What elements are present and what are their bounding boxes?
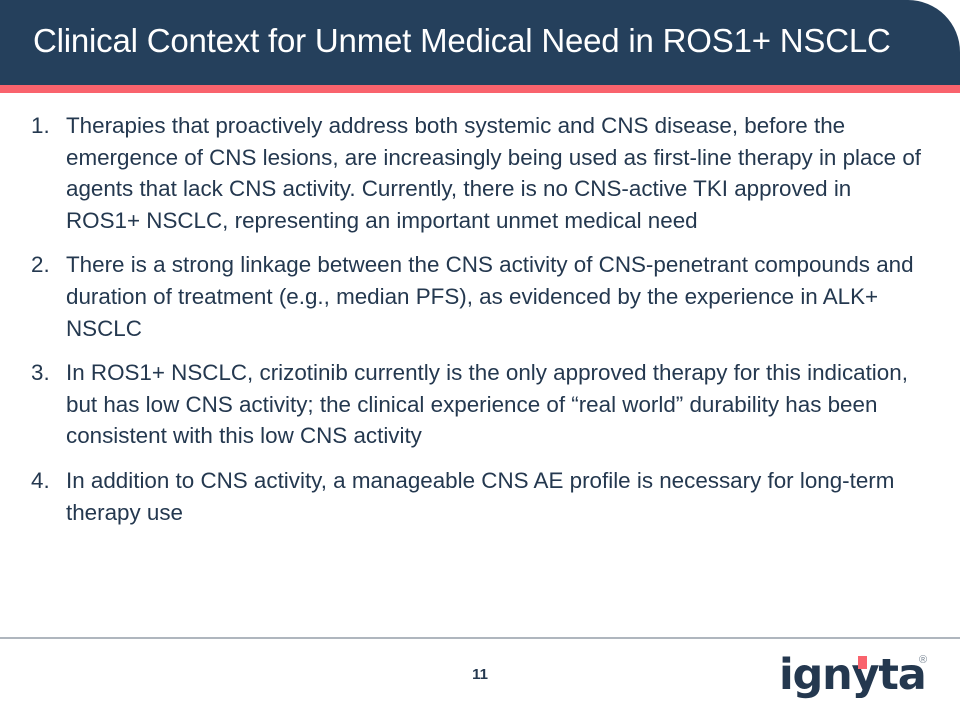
header-accent-bar — [0, 85, 960, 93]
list-item-number: 2. — [31, 249, 61, 281]
page-title: Clinical Context for Unmet Medical Need … — [33, 22, 933, 60]
registered-trademark-icon: ® — [919, 655, 927, 666]
list-item-number: 1. — [31, 110, 61, 142]
list-item-number: 3. — [31, 357, 61, 389]
slide-header: Clinical Context for Unmet Medical Need … — [0, 0, 960, 85]
bullet-list: 1. Therapies that proactively address bo… — [0, 110, 960, 541]
list-item-text: There is a strong linkage between the CN… — [66, 249, 922, 344]
list-item: 4. In addition to CNS activity, a manage… — [0, 465, 960, 528]
list-item-text: Therapies that proactively address both … — [66, 110, 922, 236]
list-item: 3. In ROS1+ NSCLC, crizotinib currently … — [0, 357, 960, 452]
list-item: 1. Therapies that proactively address bo… — [0, 110, 960, 236]
logo-wordmark: ignyta — [779, 652, 926, 698]
footer-divider — [0, 637, 960, 639]
list-item-number: 4. — [31, 465, 61, 497]
ignyta-logo: ignyta ® — [779, 652, 939, 698]
list-item-text: In ROS1+ NSCLC, crizotinib currently is … — [66, 357, 922, 452]
list-item-text: In addition to CNS activity, a manageabl… — [66, 465, 922, 528]
logo-accent-mark-icon — [858, 656, 867, 669]
list-item: 2. There is a strong linkage between the… — [0, 249, 960, 344]
